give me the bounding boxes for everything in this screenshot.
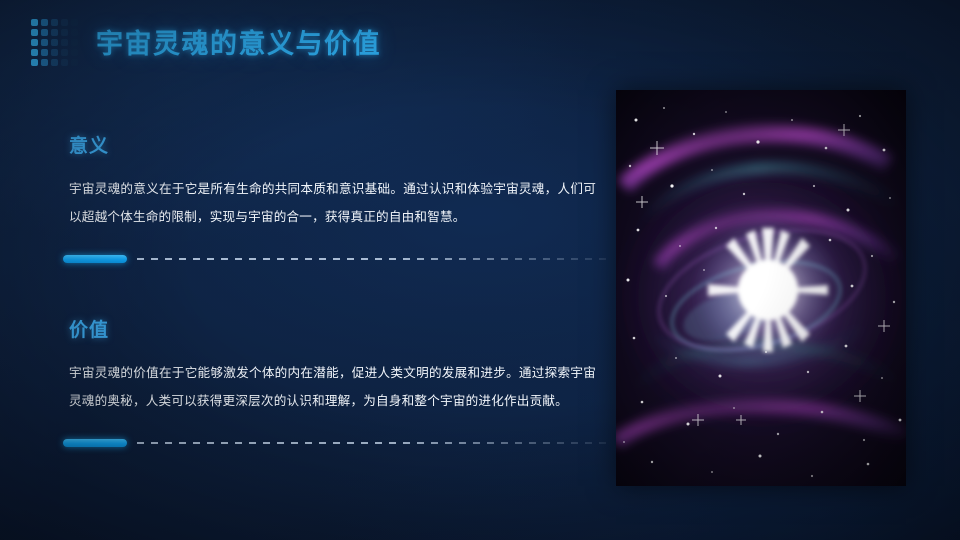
section-value: 价值 宇宙灵魂的价值在于它能够激发个体的内在潜能，促进人类文明的发展和进步。通过…	[63, 315, 608, 449]
section-body: 宇宙灵魂的价值在于它能够激发个体的内在潜能，促进人类文明的发展和进步。通过探索宇…	[69, 360, 596, 415]
slide-header: 宇宙灵魂的意义与价值	[0, 0, 960, 78]
divider-dashed-line	[137, 258, 608, 260]
dot-grid-icon	[31, 19, 78, 66]
divider-pill	[63, 439, 127, 447]
section-body: 宇宙灵魂的意义在于它是所有生命的共同本质和意识基础。通过认识和体验宇宙灵魂，人们…	[69, 176, 596, 231]
page-title: 宇宙灵魂的意义与价值	[96, 22, 381, 61]
divider-pill	[63, 255, 127, 263]
section-heading: 价值	[69, 315, 608, 342]
section-divider	[63, 437, 608, 449]
section-divider	[63, 253, 608, 265]
divider-dashed-line	[137, 442, 608, 444]
section-heading: 意义	[69, 131, 608, 158]
content-column: 意义 宇宙灵魂的意义在于它是所有生命的共同本质和意识基础。通过认识和体验宇宙灵魂…	[63, 131, 608, 449]
section-meaning: 意义 宇宙灵魂的意义在于它是所有生命的共同本质和意识基础。通过认识和体验宇宙灵魂…	[63, 131, 608, 265]
slide-root: 宇宙灵魂的意义与价值 意义 宇宙灵魂的意义在于它是所有生命的共同本质和意识基础。…	[0, 0, 960, 540]
galaxy-starburst-image	[616, 90, 906, 486]
